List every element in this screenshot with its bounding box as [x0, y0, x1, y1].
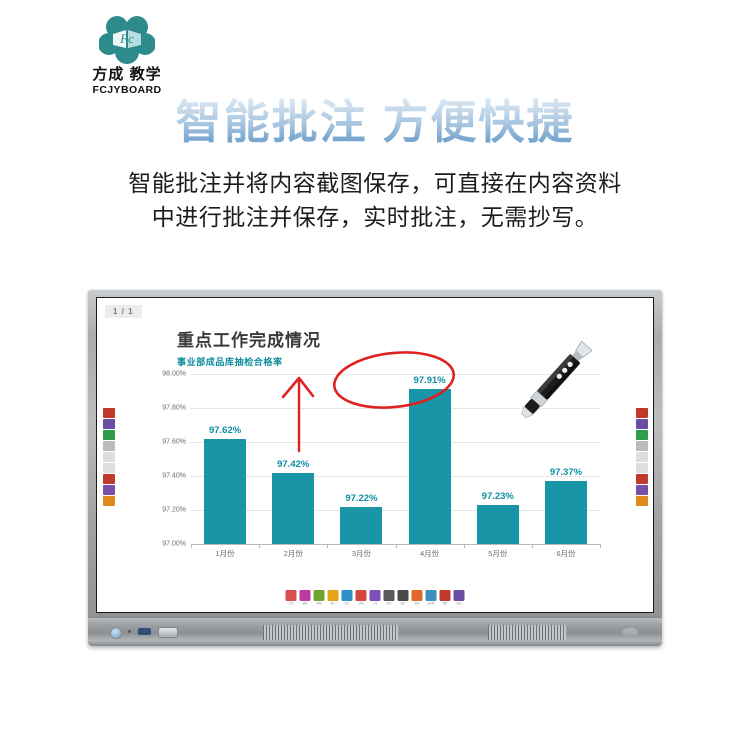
bar-value-label: 97.37%	[550, 467, 582, 478]
redo-tool-icon[interactable]	[636, 463, 648, 473]
bar	[477, 505, 519, 544]
x-axis-tick-label: 6月份	[532, 548, 600, 559]
x-axis-tick-mark	[600, 544, 601, 548]
edit-app-icon[interactable]	[300, 590, 311, 601]
shapes-tool-icon[interactable]	[103, 485, 115, 495]
x-axis-tick-mark	[532, 544, 533, 548]
speaker-grille	[488, 625, 566, 640]
undo-tool-icon[interactable]	[636, 452, 648, 462]
animation-app-button[interactable]: 动画	[356, 590, 367, 606]
x-axis-labels: 1月份2月份3月份4月份5月份6月份	[191, 548, 600, 559]
svg-text:Fc: Fc	[119, 31, 134, 46]
insert-app-icon[interactable]	[328, 590, 339, 601]
highlighter-tool-icon[interactable]	[103, 419, 115, 429]
left-annotation-toolbar[interactable]	[101, 408, 116, 513]
page-headline: 智能批注 方便快捷	[0, 92, 750, 152]
bar-value-label: 97.42%	[277, 459, 309, 470]
animation-app-icon[interactable]	[356, 590, 367, 601]
app-dock[interactable]: 文件编辑视图插入格式动画工具阅读调节颜色演示笔帮助退出	[286, 590, 465, 606]
tools-app-button[interactable]: 工具	[370, 590, 381, 606]
color-app-button[interactable]: 颜色	[412, 590, 423, 606]
x-axis-tick-mark	[191, 544, 192, 548]
y-axis-tick: 97.60%	[162, 439, 186, 446]
page-subtitle: 智能批注并将内容截图保存，可直接在内容资料 中进行批注并保存，实时批注，无需抄写…	[45, 166, 705, 234]
bar-value-label: 97.91%	[413, 375, 445, 386]
adjust-app-icon[interactable]	[398, 590, 409, 601]
highlighter-tool-icon[interactable]	[636, 419, 648, 429]
page-indicator: 1 / 1	[105, 305, 142, 318]
dock-item-label: 演示笔	[426, 602, 436, 606]
bar-item: 97.62%	[191, 374, 259, 544]
x-axis-tick-mark	[464, 544, 465, 548]
dock-item-label: 退出	[454, 602, 464, 606]
dock-item-label: 动画	[356, 602, 366, 606]
dock-item-label: 阅读	[384, 602, 394, 606]
reading-app-button[interactable]: 阅读	[384, 590, 395, 606]
save-tool-icon[interactable]	[636, 474, 648, 484]
bar-item: 97.91%	[396, 374, 464, 544]
dock-item-label: 颜色	[412, 602, 422, 606]
dock-item-label: 文件	[286, 602, 296, 606]
flower-book-logo-icon: Fc	[99, 14, 155, 66]
power-button[interactable]	[110, 627, 122, 639]
bar-item: 97.42%	[259, 374, 327, 544]
interactive-whiteboard-device: 1 / 1 重点工作完成情况 事业部成品库抽检合格率 98.00%97.80%9…	[88, 290, 662, 650]
dock-item-label: 视图	[314, 602, 324, 606]
more-tool-icon[interactable]	[636, 496, 648, 506]
bar	[545, 481, 587, 544]
pen-tool-icon[interactable]	[103, 408, 115, 418]
reading-app-icon[interactable]	[384, 590, 395, 601]
undo-tool-icon[interactable]	[103, 452, 115, 462]
status-led	[128, 630, 131, 633]
brush-tool-icon[interactable]	[103, 430, 115, 440]
tools-app-icon[interactable]	[370, 590, 381, 601]
pen-tool-icon[interactable]	[636, 408, 648, 418]
brand-name-cn: 方成 教学	[62, 67, 192, 83]
x-axis-tick-label: 3月份	[327, 548, 395, 559]
save-tool-icon[interactable]	[103, 474, 115, 484]
device-chassis	[88, 618, 662, 646]
edit-app-button[interactable]: 编辑	[300, 590, 311, 606]
y-axis-tick: 97.20%	[162, 507, 186, 514]
presenter-pen-button[interactable]: 演示笔	[426, 590, 437, 606]
dock-item-label: 调节	[398, 602, 408, 606]
usb-port	[138, 628, 151, 635]
brand-logo: Fc 方成 教学 FCJYBOARD	[62, 14, 192, 90]
bar-item: 97.22%	[327, 374, 395, 544]
exit-app-button[interactable]: 退出	[454, 590, 465, 606]
color-app-icon[interactable]	[412, 590, 423, 601]
dock-item-label: 插入	[328, 602, 338, 606]
subtitle-line-2: 中进行批注并保存，实时批注，无需抄写。	[45, 200, 705, 234]
dock-item-label: 工具	[370, 602, 380, 606]
bar-value-label: 97.23%	[482, 491, 514, 502]
file-app-button[interactable]: 文件	[286, 590, 297, 606]
x-axis-tick-label: 2月份	[259, 548, 327, 559]
hdmi-port	[158, 627, 178, 638]
insert-app-button[interactable]: 插入	[328, 590, 339, 606]
display-bezel: 1 / 1 重点工作完成情况 事业部成品库抽检合格率 98.00%97.80%9…	[88, 290, 662, 620]
bar-value-label: 97.22%	[345, 493, 377, 504]
y-axis-tick: 97.00%	[162, 541, 186, 548]
help-app-icon[interactable]	[440, 590, 451, 601]
bar	[204, 439, 246, 544]
x-axis-tick-mark	[396, 544, 397, 548]
y-axis: 98.00%97.80%97.60%97.40%97.20%97.00%	[149, 374, 189, 544]
format-app-icon[interactable]	[342, 590, 353, 601]
adjust-app-button[interactable]: 调节	[398, 590, 409, 606]
presenter-pen-icon[interactable]	[426, 590, 437, 601]
bar	[409, 389, 451, 544]
stylus-pen	[501, 330, 611, 430]
y-axis-tick: 97.80%	[162, 405, 186, 412]
view-app-icon[interactable]	[314, 590, 325, 601]
view-app-button[interactable]: 视图	[314, 590, 325, 606]
dock-item-label: 格式	[342, 602, 352, 606]
file-app-icon[interactable]	[286, 590, 297, 601]
y-axis-tick: 97.40%	[162, 473, 186, 480]
dock-item-label: 编辑	[300, 602, 310, 606]
redo-tool-icon[interactable]	[103, 463, 115, 473]
eraser-tool-icon[interactable]	[103, 441, 115, 451]
y-axis-tick: 98.00%	[162, 371, 186, 378]
shapes-tool-icon[interactable]	[636, 485, 648, 495]
brush-tool-icon[interactable]	[636, 430, 648, 440]
dock-item-label: 帮助	[440, 602, 450, 606]
help-app-button[interactable]: 帮助	[440, 590, 451, 606]
x-axis-tick-label: 5月份	[464, 548, 532, 559]
x-axis-tick-label: 1月份	[191, 548, 259, 559]
bar	[272, 473, 314, 544]
eraser-tool-icon[interactable]	[636, 441, 648, 451]
format-app-button[interactable]: 格式	[342, 590, 353, 606]
subtitle-line-1: 智能批注并将内容截图保存，可直接在内容资料	[45, 166, 705, 200]
x-axis-tick-mark	[259, 544, 260, 548]
slide-content: 重点工作完成情况 事业部成品库抽检合格率 98.00%97.80%97.60%9…	[149, 326, 619, 588]
x-axis-tick-mark	[327, 544, 328, 548]
bar	[340, 507, 382, 544]
sensor-window	[622, 628, 638, 637]
speaker-grille	[263, 625, 398, 640]
right-annotation-toolbar[interactable]	[634, 408, 649, 513]
exit-app-icon[interactable]	[454, 590, 465, 601]
bar-value-label: 97.62%	[209, 425, 241, 436]
x-axis-tick-label: 4月份	[396, 548, 464, 559]
display-screen[interactable]: 1 / 1 重点工作完成情况 事业部成品库抽检合格率 98.00%97.80%9…	[96, 297, 654, 613]
more-tool-icon[interactable]	[103, 496, 115, 506]
